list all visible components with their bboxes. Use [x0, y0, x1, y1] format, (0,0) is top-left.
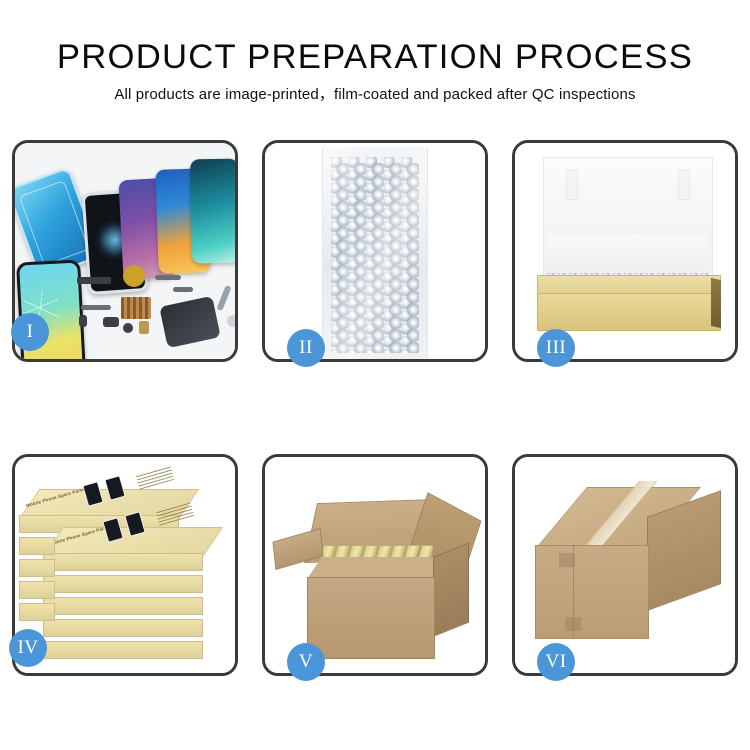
part-flex-cable-1 — [155, 275, 181, 280]
retail-box-spec-lines-back — [136, 466, 174, 489]
lid-tab-left — [566, 170, 578, 200]
retail-box-face-l1 — [19, 537, 55, 555]
phone-teal — [190, 159, 235, 264]
part-flex-cable-3 — [81, 305, 111, 310]
step-image-3 — [515, 143, 735, 359]
part-button — [79, 315, 87, 327]
retail-box-face-5 — [43, 619, 203, 637]
carton-side — [433, 542, 469, 637]
step-panel-1: I — [12, 140, 238, 362]
part-screws — [227, 315, 235, 327]
spare-parts-cluster — [77, 275, 231, 357]
retail-box-face-front — [43, 553, 203, 571]
part-chip-array — [121, 297, 151, 319]
step-image-4: Mobile Phone Spare Parts Mobile Phone Sp… — [15, 457, 235, 673]
part-camera — [103, 317, 119, 327]
step-image-6 — [515, 457, 735, 673]
step-panel-6: VI — [512, 454, 738, 676]
foam-insert — [547, 235, 707, 277]
process-grid: I II II — [12, 140, 738, 675]
step-panel-4: Mobile Phone Spare Parts Mobile Phone Sp… — [12, 454, 238, 676]
step-badge-2: II — [287, 329, 325, 367]
part-speaker — [77, 277, 111, 284]
carton-rim — [307, 557, 448, 579]
infographic-page: PRODUCT PREPARATION PROCESS All products… — [0, 0, 750, 750]
part-flex-cable-2 — [173, 287, 193, 292]
retail-box-face-6 — [43, 641, 203, 659]
step-badge-1: I — [11, 313, 49, 351]
step-panel-5: V — [262, 454, 488, 676]
tray-front — [537, 293, 721, 331]
sealed-carton-front — [535, 545, 649, 639]
step-badge-5: V — [287, 643, 325, 681]
retail-box-face-l2 — [19, 559, 55, 577]
carton-tab-bottom — [565, 617, 581, 631]
step-image-5 — [265, 457, 485, 673]
step-badge-4: IV — [9, 629, 47, 667]
part-connector — [139, 321, 149, 334]
step-badge-6: VI — [537, 643, 575, 681]
part-back-housing — [159, 296, 221, 348]
step-badge-3: III — [537, 329, 575, 367]
lid-tab-right — [678, 170, 690, 200]
carton-tab-top — [559, 553, 575, 567]
retail-box-face-3 — [43, 575, 203, 593]
plastic-sheen — [323, 147, 427, 359]
retail-box-face-4 — [43, 597, 203, 615]
retail-box-face-l4 — [19, 603, 55, 621]
part-gold-coil — [123, 265, 145, 287]
step-panel-3: III — [512, 140, 738, 362]
carton-front — [307, 577, 435, 659]
part-tool-spudger — [216, 285, 231, 311]
tray-side — [711, 278, 721, 328]
part-lens — [123, 323, 133, 333]
page-title: PRODUCT PREPARATION PROCESS — [0, 40, 750, 74]
retail-box-face-l3 — [19, 581, 55, 599]
page-subtitle: All products are image-printed，film-coat… — [0, 86, 750, 104]
step-image-2 — [265, 143, 485, 359]
header: PRODUCT PREPARATION PROCESS All products… — [0, 0, 750, 104]
step-panel-2: II — [262, 140, 488, 362]
